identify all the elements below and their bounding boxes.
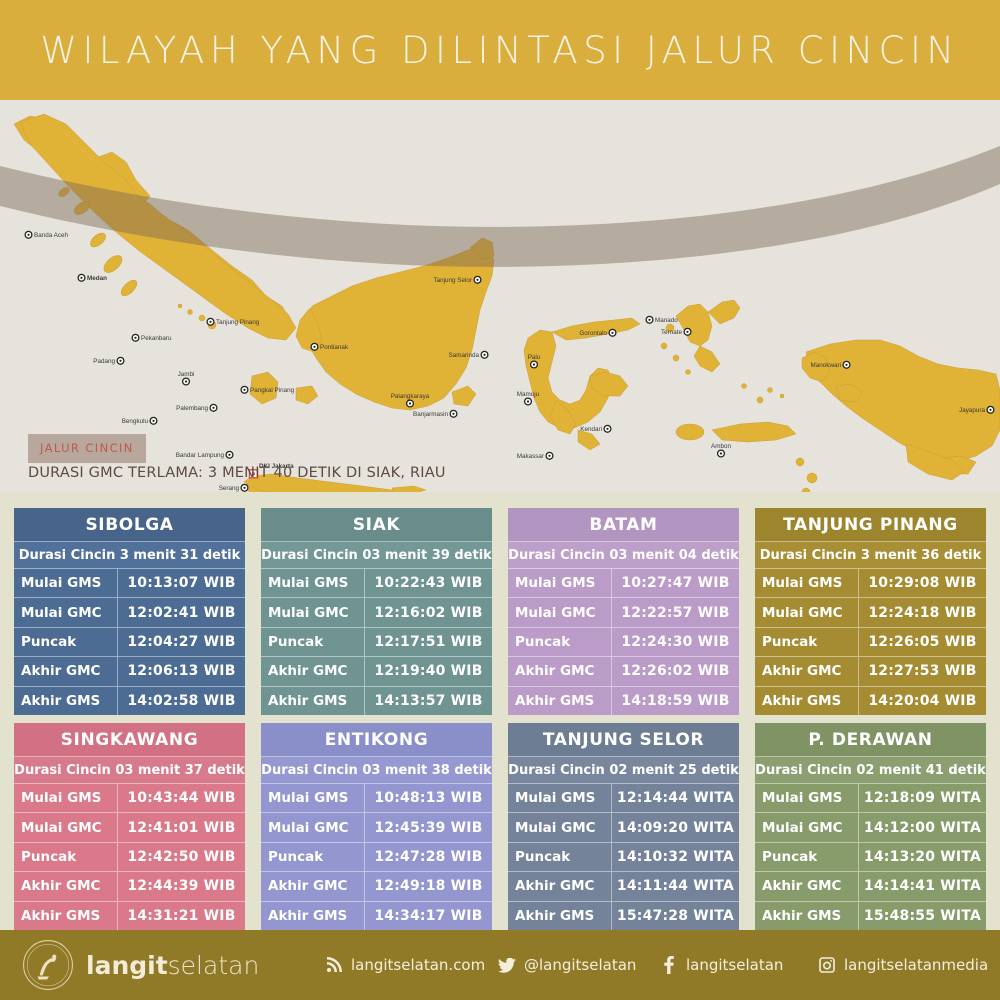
card-row: Puncak12:26:05 WIB — [755, 628, 986, 657]
card-row-label: Puncak — [508, 628, 612, 656]
footer-link-facebook-label: langitselatan — [686, 956, 783, 974]
card-row-value: 14:12:00 WITA — [859, 813, 986, 841]
card-row-value: 14:18:59 WIB — [612, 687, 739, 715]
card-row-label: Akhir GMS — [14, 902, 118, 930]
card-row-label: Akhir GMC — [755, 872, 859, 900]
card-row-label: Mulai GMC — [14, 598, 118, 626]
card-row-value: 14:10:32 WITA — [612, 843, 739, 871]
card-row: Akhir GMC12:06:13 WIB — [14, 657, 245, 686]
card-row-value: 14:31:21 WIB — [118, 902, 245, 930]
timing-card: TANJUNG PINANGDurasi Cincin 3 menit 36 d… — [755, 508, 986, 715]
card-row: Mulai GMC14:09:20 WITA — [508, 813, 739, 842]
card-title: TANJUNG PINANG — [755, 508, 986, 542]
card-row: Akhir GMS14:31:21 WIB — [14, 902, 245, 930]
twitter-icon — [498, 956, 516, 974]
card-title: BATAM — [508, 508, 739, 542]
card-row-label: Mulai GMC — [261, 813, 365, 841]
card-row-label: Akhir GMC — [508, 657, 612, 685]
footer-link-facebook[interactable]: langitselatan — [660, 956, 783, 974]
card-row-value: 14:13:20 WITA — [859, 843, 986, 871]
card-row-label: Akhir GMS — [755, 902, 859, 930]
card-row: Mulai GMC12:22:57 WIB — [508, 598, 739, 627]
card-row-label: Mulai GMC — [508, 598, 612, 626]
card-row-value: 14:02:58 WIB — [118, 687, 245, 715]
city-label: Tanjung Selor — [433, 277, 472, 284]
timing-card: TANJUNG SELORDurasi Cincin 02 menit 25 d… — [508, 723, 739, 930]
card-row-value: 14:14:41 WITA — [859, 872, 986, 900]
card-row-label: Akhir GMC — [261, 657, 365, 685]
city-label: Manado — [655, 317, 678, 324]
card-row-label: Akhir GMS — [261, 902, 365, 930]
footer-bar: langitselatan langitselatan.com @langits… — [0, 930, 1000, 1000]
footer-link-website[interactable]: langitselatan.com — [325, 956, 485, 974]
brand-light: selatan — [168, 951, 260, 980]
card-row-value: 12:02:41 WIB — [118, 598, 245, 626]
card-title: P. DERAWAN — [755, 723, 986, 757]
card-row: Akhir GMC12:27:53 WIB — [755, 657, 986, 686]
card-title: SINGKAWANG — [14, 723, 245, 757]
card-row: Mulai GMS10:43:44 WIB — [14, 784, 245, 813]
card-row-value: 12:44:39 WIB — [118, 872, 245, 900]
card-row-value: 12:04:27 WIB — [118, 628, 245, 656]
card-row: Puncak14:13:20 WITA — [755, 843, 986, 872]
card-row-label: Puncak — [261, 843, 365, 871]
card-row-value: 12:06:13 WIB — [118, 657, 245, 685]
footer-link-twitter-label: @langitselatan — [524, 956, 636, 974]
timing-card: SIAKDurasi Cincin 03 menit 39 detikMulai… — [261, 508, 492, 715]
card-row-value: 12:24:30 WIB — [612, 628, 739, 656]
map-sea — [0, 100, 1000, 492]
legend-jalur-cincin: JALUR CINCIN — [28, 434, 146, 463]
card-row: Akhir GMC12:49:18 WIB — [261, 872, 492, 901]
card-row-value: 12:45:39 WIB — [365, 813, 492, 841]
city-label: Jayapura — [959, 407, 985, 414]
card-row-label: Akhir GMC — [755, 657, 859, 685]
card-row-value: 10:22:43 WIB — [365, 569, 492, 597]
card-title: ENTIKONG — [261, 723, 492, 757]
card-row: Puncak12:42:50 WIB — [14, 843, 245, 872]
city-timing-cards: SIBOLGADurasi Cincin 3 menit 31 detikMul… — [0, 500, 1000, 930]
card-duration: Durasi Cincin 03 menit 38 detik — [261, 757, 492, 784]
card-row: Akhir GMC12:26:02 WIB — [508, 657, 739, 686]
card-row: Akhir GMS14:34:17 WIB — [261, 902, 492, 930]
city-label: Banjarmasin — [413, 411, 448, 418]
card-row-value: 12:19:40 WIB — [365, 657, 492, 685]
card-row-label: Akhir GMC — [508, 872, 612, 900]
card-row: Akhir GMS14:20:04 WIB — [755, 687, 986, 715]
card-row: Akhir GMS14:13:57 WIB — [261, 687, 492, 715]
card-row-label: Puncak — [755, 628, 859, 656]
card-row-label: Mulai GMS — [755, 569, 859, 597]
map-subtitle: DURASI GMC TERLAMA: 3 MENIT 40 DETIK DI … — [28, 465, 446, 481]
card-row: Akhir GMS14:18:59 WIB — [508, 687, 739, 715]
card-row-value: 14:34:17 WIB — [365, 902, 492, 930]
card-row-value: 10:27:47 WIB — [612, 569, 739, 597]
card-row-label: Akhir GMS — [508, 902, 612, 930]
card-row: Akhir GMC14:11:44 WITA — [508, 872, 739, 901]
langitselatan-logo-icon — [22, 939, 74, 991]
card-row-label: Mulai GMS — [261, 784, 365, 812]
card-row-label: Akhir GMS — [508, 687, 612, 715]
card-row: Mulai GMS10:13:07 WIB — [14, 569, 245, 598]
city-label: Palangkaraya — [391, 393, 430, 400]
card-row-label: Akhir GMS — [755, 687, 859, 715]
card-row-value: 14:11:44 WITA — [612, 872, 739, 900]
city-label: Mamuju — [517, 391, 540, 398]
card-title: TANJUNG SELOR — [508, 723, 739, 757]
card-row-label: Mulai GMC — [261, 598, 365, 626]
card-row-label: Akhir GMC — [14, 657, 118, 685]
city-label: Tanjung Pinang — [216, 319, 260, 326]
card-row: Akhir GMS14:02:58 WIB — [14, 687, 245, 715]
card-row-label: Mulai GMS — [508, 569, 612, 597]
brand[interactable]: langitselatan — [22, 939, 259, 991]
rss-icon — [325, 956, 343, 974]
card-row-label: Mulai GMS — [755, 784, 859, 812]
card-row-value: 15:47:28 WITA — [612, 902, 739, 930]
card-duration: Durasi Cincin 03 menit 39 detik — [261, 542, 492, 569]
card-title: SIBOLGA — [14, 508, 245, 542]
card-row-value: 12:47:28 WIB — [365, 843, 492, 871]
card-row-value: 10:29:08 WIB — [859, 569, 986, 597]
card-row-label: Puncak — [261, 628, 365, 656]
card-row-label: Akhir GMC — [14, 872, 118, 900]
indonesia-map: Banda AcehMedanPekanbaruPadangTanjung Pi… — [0, 100, 1000, 492]
card-row-label: Mulai GMS — [261, 569, 365, 597]
timing-card: BATAMDurasi Cincin 03 menit 04 detikMula… — [508, 508, 739, 715]
card-row: Puncak12:24:30 WIB — [508, 628, 739, 657]
card-row: Mulai GMS10:22:43 WIB — [261, 569, 492, 598]
card-row: Mulai GMC12:16:02 WIB — [261, 598, 492, 627]
page-title: WILAYAH YANG DILINTASI JALUR CINCIN — [40, 29, 959, 72]
card-row-label: Puncak — [14, 628, 118, 656]
city-label: Samarinda — [449, 352, 480, 359]
card-row-label: Puncak — [508, 843, 612, 871]
card-row-label: Akhir GMC — [261, 872, 365, 900]
city-label: Pekanbaru — [141, 335, 172, 342]
instagram-icon — [818, 956, 836, 974]
brand-bold: langit — [86, 951, 168, 980]
card-row: Mulai GMS10:48:13 WIB — [261, 784, 492, 813]
card-row-value: 12:41:01 WIB — [118, 813, 245, 841]
card-row-label: Akhir GMS — [261, 687, 365, 715]
facebook-icon — [660, 956, 678, 974]
card-row-label: Mulai GMC — [14, 813, 118, 841]
card-row-value: 10:43:44 WIB — [118, 784, 245, 812]
footer-link-website-label: langitselatan.com — [351, 956, 485, 974]
card-row: Akhir GMC12:19:40 WIB — [261, 657, 492, 686]
city-label: Ternate — [661, 329, 683, 336]
card-row-value: 14:09:20 WITA — [612, 813, 739, 841]
card-row-label: Puncak — [755, 843, 859, 871]
timing-card: P. DERAWANDurasi Cincin 02 menit 41 deti… — [755, 723, 986, 930]
card-row-value: 12:17:51 WIB — [365, 628, 492, 656]
city-label: Makassar — [517, 453, 544, 460]
city-label: Gorontalo — [579, 330, 607, 337]
card-row: Mulai GMC12:45:39 WIB — [261, 813, 492, 842]
card-duration: Durasi Cincin 3 menit 36 detik — [755, 542, 986, 569]
card-duration: Durasi Cincin 02 menit 25 detik — [508, 757, 739, 784]
card-row: Puncak14:10:32 WITA — [508, 843, 739, 872]
card-row-label: Mulai GMC — [508, 813, 612, 841]
card-row: Mulai GMC12:24:18 WIB — [755, 598, 986, 627]
timing-card: SIBOLGADurasi Cincin 3 menit 31 detikMul… — [14, 508, 245, 715]
timing-card: ENTIKONGDurasi Cincin 03 menit 38 detikM… — [261, 723, 492, 930]
city-label: Ambon — [711, 443, 731, 450]
footer-link-instagram[interactable]: langitselatanmedia — [818, 956, 988, 974]
city-label: Serang — [219, 485, 240, 492]
city-label: Palu — [528, 354, 541, 361]
timing-card: SINGKAWANGDurasi Cincin 03 menit 37 deti… — [14, 723, 245, 930]
card-row: Puncak12:47:28 WIB — [261, 843, 492, 872]
legend-label: JALUR CINCIN — [40, 441, 134, 455]
brand-wordmark: langitselatan — [86, 951, 259, 980]
card-row-value: 12:49:18 WIB — [365, 872, 492, 900]
city-label: Pontianak — [320, 344, 349, 351]
card-duration: Durasi Cincin 03 menit 04 detik — [508, 542, 739, 569]
card-row-value: 10:48:13 WIB — [365, 784, 492, 812]
card-row-value: 14:20:04 WIB — [859, 687, 986, 715]
card-row: Mulai GMS10:27:47 WIB — [508, 569, 739, 598]
card-row-label: Mulai GMS — [14, 569, 118, 597]
footer-link-twitter[interactable]: @langitselatan — [498, 956, 636, 974]
city-label: Banda Aceh — [34, 232, 68, 239]
card-row-value: 12:18:09 WITA — [859, 784, 986, 812]
card-row-label: Mulai GMS — [508, 784, 612, 812]
city-label: Padang — [93, 358, 115, 365]
city-label: Medan — [87, 275, 107, 282]
card-row-value: 12:27:53 WIB — [859, 657, 986, 685]
card-row-value: 12:22:57 WIB — [612, 598, 739, 626]
card-duration: Durasi Cincin 3 menit 31 detik — [14, 542, 245, 569]
city-label: Bandar Lampung — [176, 452, 225, 459]
card-row-value: 15:48:55 WITA — [859, 902, 986, 930]
card-row-value: 12:26:05 WIB — [859, 628, 986, 656]
card-row: Puncak12:04:27 WIB — [14, 628, 245, 657]
card-row: Mulai GMC12:41:01 WIB — [14, 813, 245, 842]
card-duration: Durasi Cincin 02 menit 41 detik — [755, 757, 986, 784]
card-row-value: 12:26:02 WIB — [612, 657, 739, 685]
card-row: Akhir GMS15:47:28 WITA — [508, 902, 739, 930]
map-svg: Banda AcehMedanPekanbaruPadangTanjung Pi… — [0, 100, 1000, 492]
city-label: Bengkulu — [122, 418, 149, 425]
city-label: Manokwari — [811, 362, 841, 369]
card-row: Akhir GMC14:14:41 WITA — [755, 872, 986, 901]
card-row-value: 12:16:02 WIB — [365, 598, 492, 626]
card-row-value: 10:13:07 WIB — [118, 569, 245, 597]
card-row-value: 12:14:44 WITA — [612, 784, 739, 812]
card-row: Mulai GMC14:12:00 WITA — [755, 813, 986, 842]
card-row-value: 14:13:57 WIB — [365, 687, 492, 715]
card-row: Puncak12:17:51 WIB — [261, 628, 492, 657]
card-title: SIAK — [261, 508, 492, 542]
card-row-value: 12:42:50 WIB — [118, 843, 245, 871]
card-row: Mulai GMS12:18:09 WITA — [755, 784, 986, 813]
city-label: Jambi — [178, 371, 195, 378]
card-row: Akhir GMC12:44:39 WIB — [14, 872, 245, 901]
card-row: Mulai GMS12:14:44 WITA — [508, 784, 739, 813]
card-row-label: Puncak — [14, 843, 118, 871]
city-label: Pangkal Pinang — [250, 387, 295, 394]
card-row-label: Mulai GMC — [755, 813, 859, 841]
footer-link-instagram-label: langitselatanmedia — [844, 956, 988, 974]
card-duration: Durasi Cincin 03 menit 37 detik — [14, 757, 245, 784]
city-label: Kendari — [580, 426, 602, 433]
card-row: Mulai GMS10:29:08 WIB — [755, 569, 986, 598]
card-row: Mulai GMC12:02:41 WIB — [14, 598, 245, 627]
card-row-value: 12:24:18 WIB — [859, 598, 986, 626]
card-row-label: Akhir GMS — [14, 687, 118, 715]
title-bar: WILAYAH YANG DILINTASI JALUR CINCIN — [0, 0, 1000, 100]
card-row-label: Mulai GMS — [14, 784, 118, 812]
card-row-label: Mulai GMC — [755, 598, 859, 626]
city-label: Palembang — [176, 405, 208, 412]
infographic-page: WILAYAH YANG DILINTASI JALUR CINCIN — [0, 0, 1000, 1000]
card-row: Akhir GMS15:48:55 WITA — [755, 902, 986, 930]
